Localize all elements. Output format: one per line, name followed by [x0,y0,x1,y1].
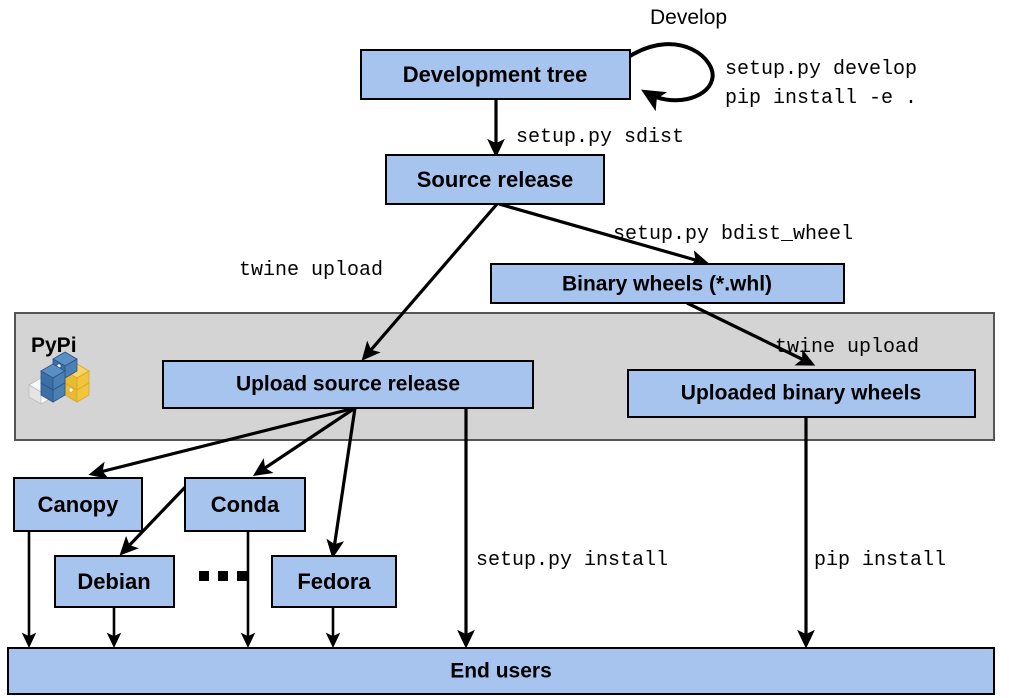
ellipsis-indicator [199,571,247,581]
node-development-tree[interactable]: Development tree [361,50,630,99]
diagram-canvas: PyPi [0,0,1009,698]
development-tree-label: Development tree [403,62,588,87]
ellipsis-dot-2 [218,571,228,581]
node-source-release[interactable]: Source release [386,155,604,204]
end-users-label: End users [450,660,552,683]
upload-source-release-label: Upload source release [236,373,460,396]
uploaded-binary-wheels-label: Uploaded binary wheels [681,382,921,405]
debian-label: Debian [77,569,150,594]
edge-develop-loop [630,44,713,100]
label-setup-py-bdist-wheel: setup.py bdist_wheel [613,223,853,246]
node-fedora[interactable]: Fedora [272,556,396,607]
ellipsis-dot-3 [237,571,247,581]
label-setup-py-sdist: setup.py sdist [516,126,684,149]
label-develop: Develop [650,6,727,29]
node-upload-source-release[interactable]: Upload source release [163,361,533,408]
node-debian[interactable]: Debian [55,556,174,607]
node-binary-wheels[interactable]: Binary wheels (*.whl) [491,264,844,303]
label-setup-py-develop: setup.py develop [725,58,917,81]
binary-wheels-label: Binary wheels (*.whl) [562,273,772,296]
node-canopy[interactable]: Canopy [14,478,142,531]
node-end-users[interactable]: End users [8,648,994,694]
node-conda[interactable]: Conda [185,478,305,531]
label-twine-upload-wheels: twine upload [775,336,919,359]
source-release-label: Source release [417,167,574,192]
ellipsis-dot-1 [199,571,209,581]
flow-diagram: PyPi [0,0,1009,698]
conda-label: Conda [211,492,280,517]
canopy-label: Canopy [38,492,119,517]
pypi-panel-title: PyPi [31,334,77,357]
fedora-label: Fedora [297,569,371,594]
label-setup-py-install: setup.py install [476,549,668,572]
label-pip-install: pip install [814,549,946,572]
label-twine-upload-source: twine upload [239,259,383,282]
node-uploaded-binary-wheels[interactable]: Uploaded binary wheels [628,370,975,417]
label-pip-install-editable: pip install -e . [725,87,917,110]
